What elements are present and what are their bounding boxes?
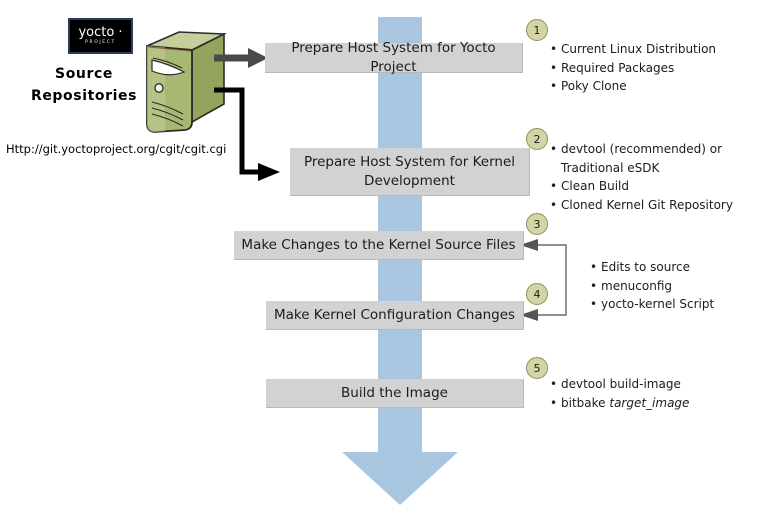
yocto-project-logo: yocto · PROJECT	[68, 18, 133, 54]
main-flow-arrow-head	[342, 452, 458, 505]
step-5-notes: devtool build-image bitbake target_image	[548, 375, 763, 412]
bracket-steps-3-4	[520, 239, 566, 321]
list-item-bitbake: bitbake target_image	[561, 394, 763, 413]
bitbake-target-image: target_image	[609, 396, 689, 410]
process-box-step-3-label: Make Changes to the Kernel Source Files	[241, 236, 515, 254]
list-item: Edits to source	[601, 258, 763, 277]
step-number-5: 5	[526, 357, 548, 379]
process-box-step-3[interactable]: Make Changes to the Kernel Source Files	[234, 231, 524, 260]
step-number-4: 4	[526, 283, 548, 305]
step-number-1-text: 1	[534, 24, 541, 37]
process-box-step-4-label: Make Kernel Configuration Changes	[274, 306, 515, 324]
list-item: Cloned Kernel Git Repository	[561, 196, 763, 215]
logo-wordmark: yocto ·	[78, 26, 122, 39]
source-repositories-label-line1: Source	[24, 64, 144, 86]
step-number-5-text: 5	[534, 362, 541, 375]
step-number-2: 2	[526, 128, 548, 150]
list-item: Poky Clone	[561, 77, 763, 96]
source-repositories-label-line2: Repositories	[24, 86, 144, 108]
bitbake-prefix: bitbake	[561, 396, 609, 410]
step-number-4-text: 4	[534, 288, 541, 301]
process-box-step-1[interactable]: Prepare Host System for Yocto Project	[265, 43, 523, 73]
steps-3-4-notes: Edits to source menuconfig yocto-kernel …	[588, 258, 763, 314]
list-item: yocto-kernel Script	[601, 295, 763, 314]
diagram-canvas: yocto · PROJECT Source Repositories Http…	[0, 0, 769, 517]
process-box-step-2-label: Prepare Host System for Kernel Developme…	[296, 153, 523, 189]
step-1-notes: Current Linux Distribution Required Pack…	[548, 40, 763, 96]
list-item: Current Linux Distribution	[561, 40, 763, 59]
process-box-step-4[interactable]: Make Kernel Configuration Changes	[266, 301, 524, 330]
list-item: devtool (recommended) or Traditional eSD…	[561, 140, 763, 177]
process-box-step-2[interactable]: Prepare Host System for Kernel Developme…	[290, 148, 530, 196]
source-repositories-url: Http://git.yoctoproject.org/cgit/cgit.cg…	[6, 142, 226, 156]
list-item: Clean Build	[561, 177, 763, 196]
step-number-3-text: 3	[534, 218, 541, 231]
process-box-step-5[interactable]: Build the Image	[266, 379, 524, 408]
step-number-3: 3	[526, 213, 548, 235]
list-item: Required Packages	[561, 59, 763, 78]
logo-subtext: PROJECT	[85, 41, 116, 46]
process-box-step-1-label: Prepare Host System for Yocto Project	[271, 39, 516, 75]
list-item: menuconfig	[601, 277, 763, 296]
source-repositories-label: Source Repositories	[24, 64, 144, 107]
list-item: devtool build-image	[561, 375, 763, 394]
server-icon	[135, 30, 227, 135]
process-box-step-5-label: Build the Image	[341, 384, 448, 402]
step-2-notes: devtool (recommended) or Traditional eSD…	[548, 140, 763, 214]
step-number-1: 1	[526, 19, 548, 41]
step-number-2-text: 2	[534, 133, 541, 146]
